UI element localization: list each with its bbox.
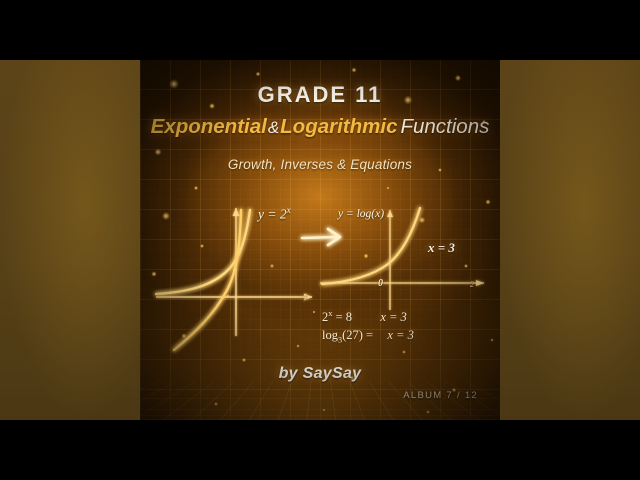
album-cover-art: y = 2x y = log(x) x = 3 0 2 4 2x = 8 x =… <box>140 60 500 420</box>
equations-block: 2x = 8 x = 3 log3(27) = x = 3 <box>322 307 414 347</box>
exponential-graph-axes <box>156 208 312 336</box>
zero-tick-label: 0 <box>378 278 383 289</box>
exponential-growth-curve <box>156 210 250 294</box>
title-word-exponential: Exponential <box>151 115 267 138</box>
letterbox-bar-bottom <box>0 420 640 480</box>
album-counter: ALBUM 7 / 12 <box>403 390 478 401</box>
arrow-right-icon <box>302 229 340 245</box>
byline-artist: by SaySay <box>140 365 500 383</box>
subtitle: Growth, Inverses & Equations <box>140 157 500 172</box>
title-ampersand: & <box>267 118 280 137</box>
page-title: Exponential&LogarithmicFunctions <box>140 115 500 139</box>
letterbox-bar-top <box>0 0 640 60</box>
logarithmic-curve-label: y = log(x) <box>338 208 384 220</box>
exponential-decay-curve <box>174 210 241 350</box>
grade-label: GRADE 11 <box>140 82 500 108</box>
exponential-curve-label: y = 2x <box>258 205 291 223</box>
video-player-stage: y = 2x y = log(x) x = 3 0 2 4 2x = 8 x =… <box>0 0 640 480</box>
four-tick-label: 4 <box>303 292 307 301</box>
equation-row-2: log3(27) = x = 3 <box>322 326 414 346</box>
equation-row-1: 2x = 8 x = 3 <box>322 307 414 326</box>
x-equals-3-label: x = 3 <box>428 240 455 256</box>
title-word-functions: Functions <box>397 115 489 138</box>
logarithmic-graph-axes <box>320 210 484 310</box>
title-word-logarithmic: Logarithmic <box>280 115 397 138</box>
two-tick-label: 2 <box>470 280 474 289</box>
